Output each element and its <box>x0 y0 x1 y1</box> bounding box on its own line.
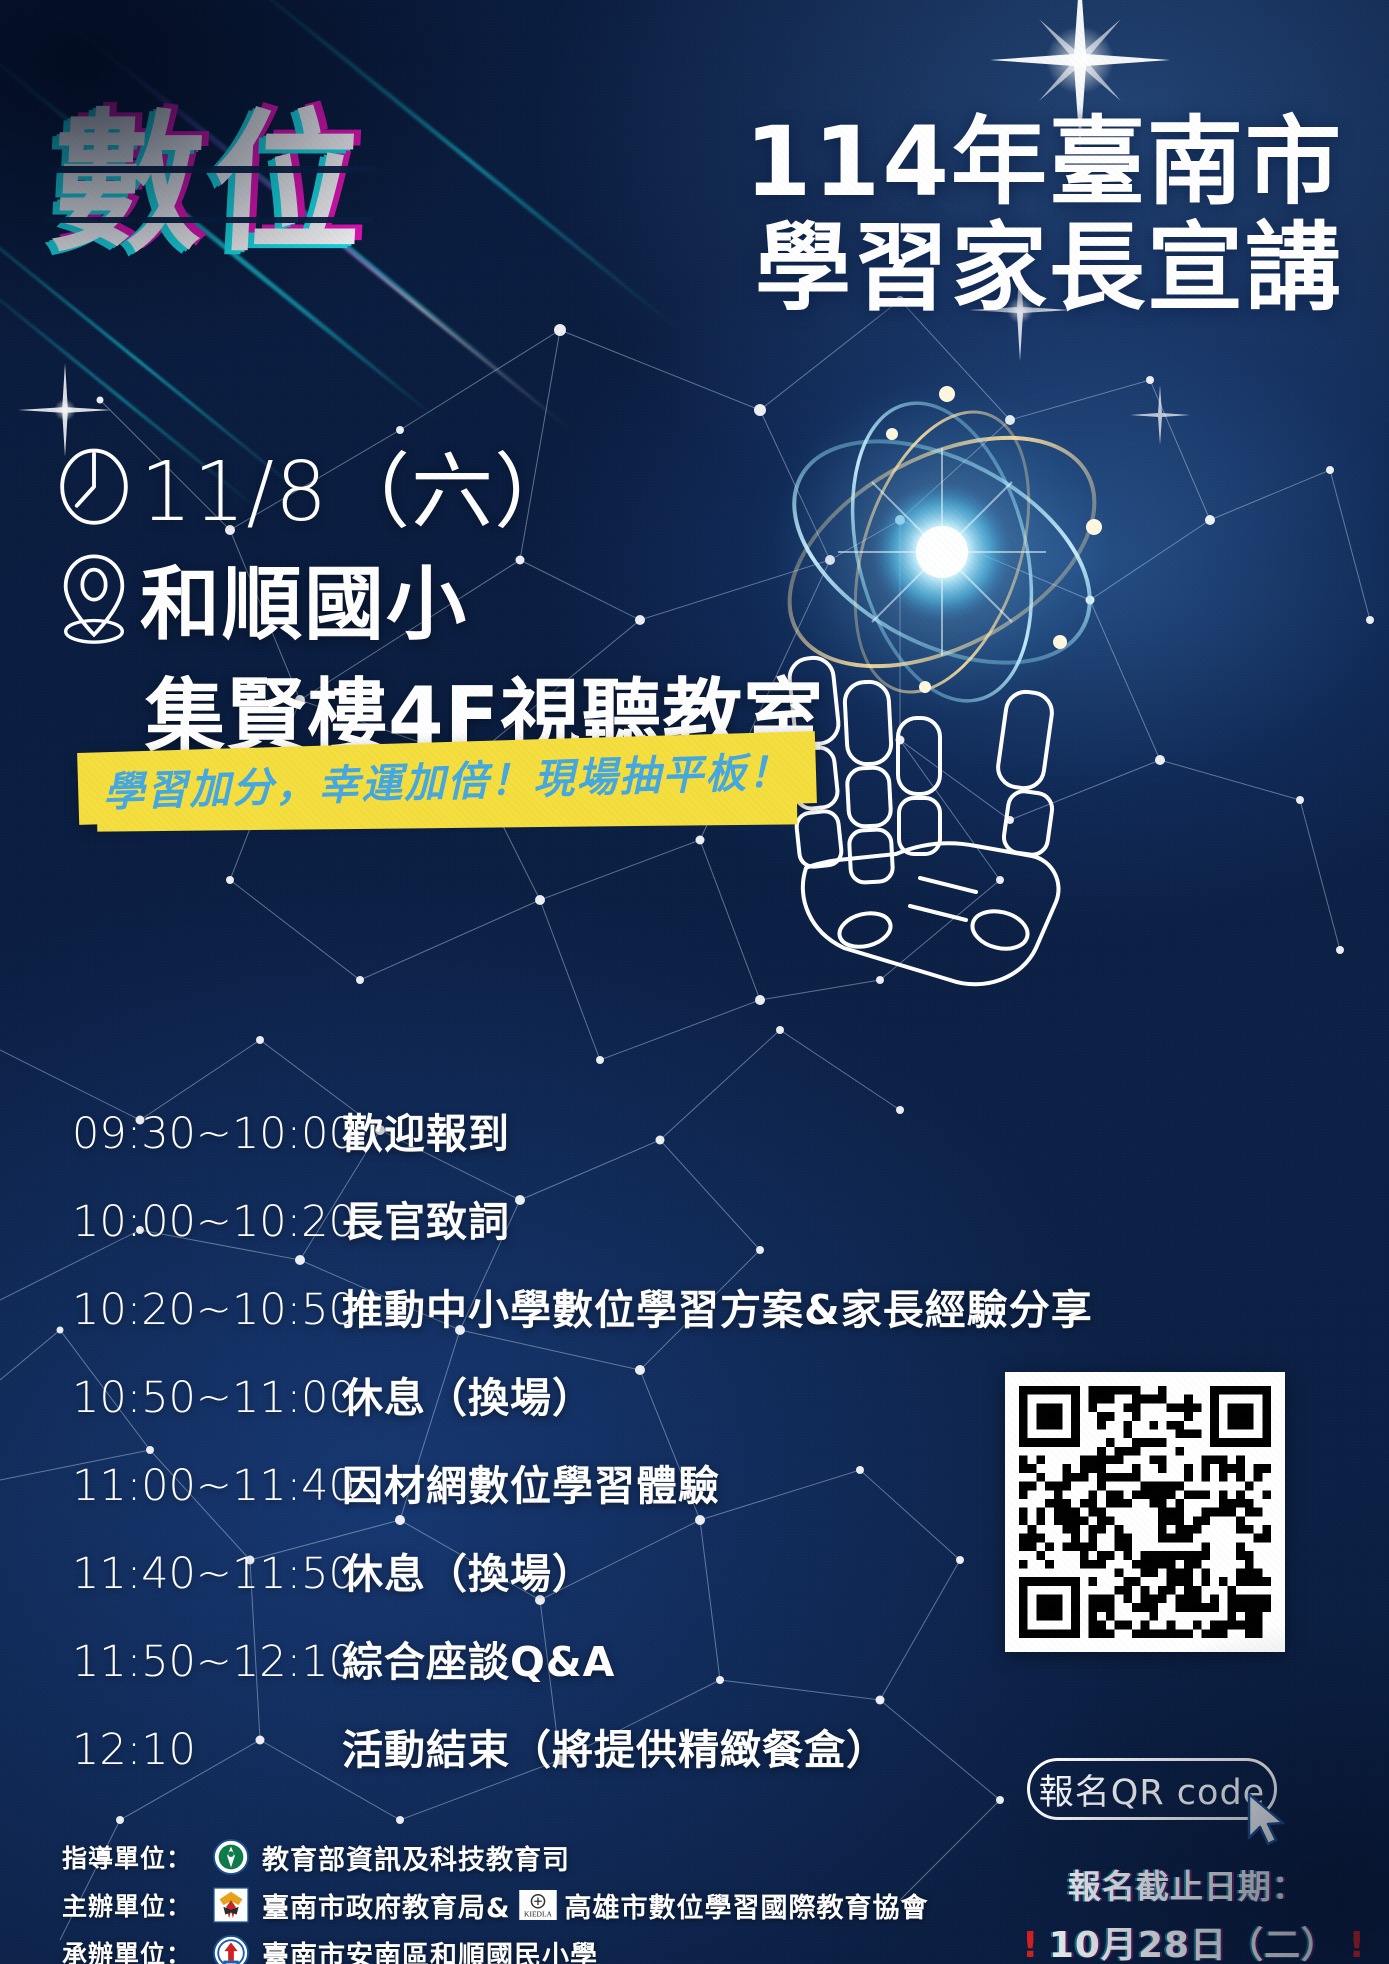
schedule-item: 長官致詞 <box>342 1188 510 1248</box>
schedule-time: 11:50~12:10 <box>72 1637 342 1687</box>
deadline-date: 10月28日（二） <box>1049 1925 1338 1964</box>
alert-bang-left: ! <box>1022 1925 1038 1964</box>
footer-org-name-part2: 高雄市數位學習國際教育協會 <box>565 1886 929 1925</box>
schedule-time: 10:50~11:00 <box>72 1373 342 1423</box>
schedule-row: 11:40~11:50 休息（換場） <box>72 1540 1072 1600</box>
footer-label: 指導單位： <box>62 1839 212 1875</box>
schedule-time: 10:20~10:50 <box>72 1285 342 1335</box>
schedule-row: 12:10 活動結束（將提供精緻餐盒） <box>72 1716 1072 1776</box>
schedule-row: 10:20~10:50 推動中小學數位學習方案&家長經驗分享 <box>72 1276 1072 1336</box>
location-pin-icon <box>48 552 140 644</box>
alert-bang-right: ! <box>1349 1925 1365 1964</box>
schedule-item: 歡迎報到 <box>342 1100 510 1160</box>
poster-root: 數位 114年臺南市 學習家長宣講 11/8（六） 和順國小 集賢樓4F視聽教室… <box>0 0 1389 1964</box>
schedule-item: 活動結束（將提供精緻餐盒） <box>342 1716 888 1776</box>
mouse-cursor-icon <box>1243 1790 1293 1848</box>
kiedla-logo-icon: KIEDLA <box>519 1890 557 1920</box>
schedule-time: 10:00~10:20 <box>72 1197 342 1247</box>
footer-row-host: 主辦單位： 臺南市政府教育局& KIEDLA 高雄市數位學習國際教育協會 <box>62 1886 929 1924</box>
heshun-school-emblem-icon <box>212 1934 250 1964</box>
schedule-time: 11:00~11:40 <box>72 1461 342 1511</box>
footer-org-name: 臺南市安南區和順國民小學 <box>262 1934 598 1964</box>
deadline-date-row: ! 10月28日（二） ! <box>1022 1916 1352 1964</box>
title-line-2: 學習家長宣講 <box>755 190 1343 329</box>
footer-org-name-part1: 臺南市政府教育局& <box>262 1886 511 1925</box>
schedule-row: 11:50~12:10 綜合座談Q&A <box>72 1628 1072 1688</box>
schedule-row: 10:50~11:00 休息（換場） <box>72 1364 1072 1424</box>
clock-icon <box>48 439 140 531</box>
schedule-row: 11:00~11:40 因材網數位學習體驗 <box>72 1452 1072 1512</box>
footer-credits: 指導單位： 教育部資訊及科技教育司 主辦單位： 臺南市政府教育局& <box>62 1838 929 1964</box>
event-venue-text: 和順國小 <box>140 540 468 656</box>
digital-badge-word: 數位 <box>48 108 372 260</box>
event-date-text: 11/8（六） <box>140 425 577 544</box>
moe-emblem-icon <box>212 1838 250 1876</box>
schedule-time: 12:10 <box>72 1725 342 1775</box>
footer-org-name: 教育部資訊及科技教育司 <box>262 1838 570 1877</box>
slogan-text: 學習加分，幸運加倍！現場抽平板！ <box>102 738 791 818</box>
qr-code-icon[interactable] <box>1005 1372 1285 1652</box>
poster-header: 數位 114年臺南市 學習家長宣講 <box>0 0 1389 330</box>
svg-text:KIEDLA: KIEDLA <box>524 1909 552 1918</box>
footer-label: 承辦單位： <box>62 1935 212 1964</box>
footer-row-guidance: 指導單位： 教育部資訊及科技教育司 <box>62 1838 929 1876</box>
registration-deadline: 報名截止日期： ! 10月28日（二） ! <box>1022 1860 1352 1964</box>
event-date-row: 11/8（六） <box>48 425 577 544</box>
schedule-item: 休息（換場） <box>342 1364 594 1424</box>
schedule-time: 09:30~10:00 <box>72 1109 342 1159</box>
tainan-city-emblem-icon <box>212 1886 250 1924</box>
qr-pill-label: 報名QR code <box>1039 1764 1265 1815</box>
event-venue-row: 和順國小 <box>48 540 468 656</box>
sparkle-star-mid-right <box>1120 375 1200 455</box>
schedule-list: 09:30~10:00 歡迎報到 10:00~10:20 長官致詞 10:20~… <box>72 1100 1072 1804</box>
schedule-row: 09:30~10:00 歡迎報到 <box>72 1100 1072 1160</box>
schedule-item: 因材網數位學習體驗 <box>342 1452 720 1512</box>
schedule-row: 10:00~10:20 長官致詞 <box>72 1188 1072 1248</box>
footer-label: 主辦單位： <box>62 1887 212 1923</box>
deadline-label: 報名截止日期： <box>1022 1860 1352 1908</box>
schedule-item: 綜合座談Q&A <box>342 1628 615 1688</box>
schedule-time: 11:40~11:50 <box>72 1549 342 1599</box>
schedule-item: 推動中小學數位學習方案&家長經驗分享 <box>342 1276 1093 1336</box>
footer-row-organizer: 承辦單位： 臺南市安南區和順國民小學 <box>62 1934 929 1964</box>
qr-registration-button[interactable]: 報名QR code <box>1027 1758 1277 1820</box>
schedule-item: 休息（換場） <box>342 1540 594 1600</box>
qr-code-canvas <box>1019 1386 1271 1638</box>
